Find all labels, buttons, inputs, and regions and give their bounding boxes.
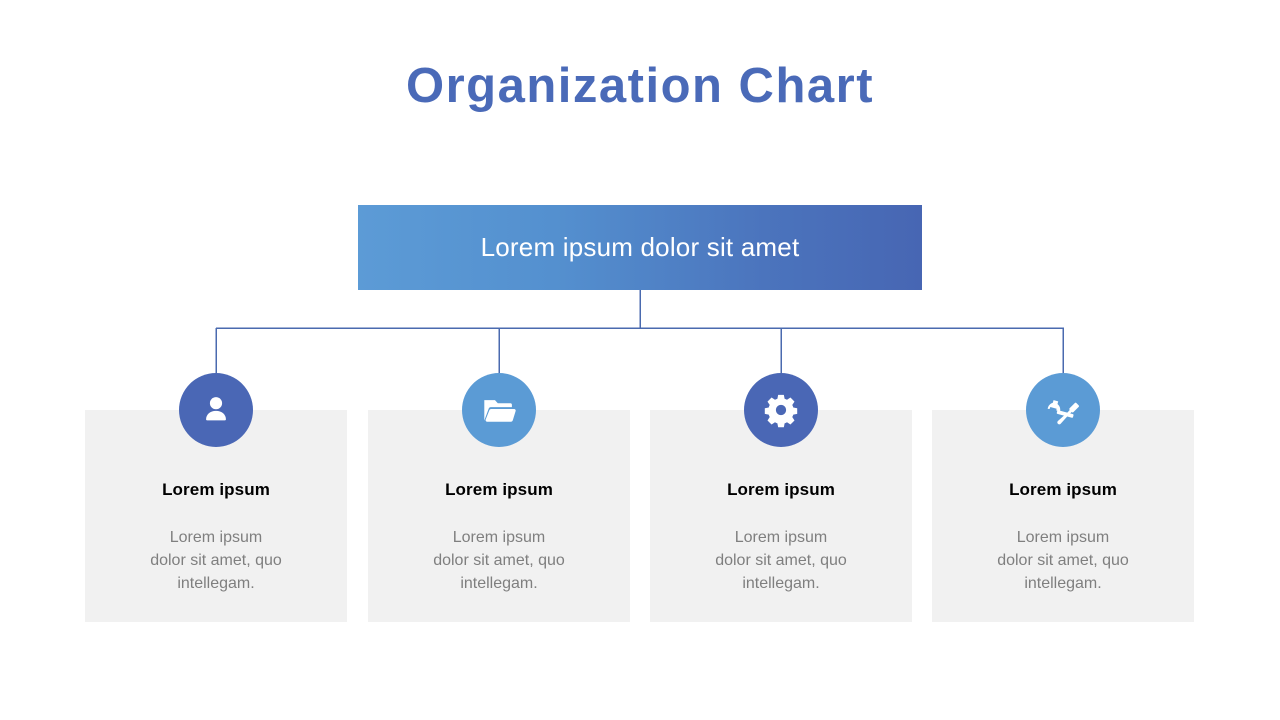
branch-icon-circle[interactable] bbox=[1026, 373, 1100, 447]
branch-heading: Lorem ipsum bbox=[932, 480, 1194, 500]
gear-icon bbox=[763, 392, 799, 428]
branch-icon-circle[interactable] bbox=[462, 373, 536, 447]
root-node-label: Lorem ipsum dolor sit amet bbox=[481, 232, 800, 263]
root-node-box[interactable]: Lorem ipsum dolor sit amet bbox=[358, 205, 922, 290]
person-icon bbox=[199, 393, 233, 427]
branch-node-1[interactable]: Lorem ipsum Lorem ipsum dolor sit amet, … bbox=[85, 410, 347, 622]
folder-icon bbox=[481, 392, 517, 428]
branch-node-3[interactable]: Lorem ipsum Lorem ipsum dolor sit amet, … bbox=[650, 410, 912, 622]
branch-heading: Lorem ipsum bbox=[85, 480, 347, 500]
organization-chart-slide: Organization Chart Lorem ipsum dolor sit… bbox=[0, 0, 1280, 720]
branch-body-text: Lorem ipsum dolor sit amet, quo intelleg… bbox=[374, 526, 624, 595]
branch-heading: Lorem ipsum bbox=[650, 480, 912, 500]
branch-body-text: Lorem ipsum dolor sit amet, quo intelleg… bbox=[91, 526, 341, 595]
page-title: Organization Chart bbox=[0, 58, 1280, 114]
branch-body-text: Lorem ipsum dolor sit amet, quo intelleg… bbox=[656, 526, 906, 595]
branch-node-4[interactable]: Lorem ipsum Lorem ipsum dolor sit amet, … bbox=[932, 410, 1194, 622]
tools-icon bbox=[1045, 392, 1081, 428]
branch-icon-circle[interactable] bbox=[744, 373, 818, 447]
branch-node-2[interactable]: Lorem ipsum Lorem ipsum dolor sit amet, … bbox=[368, 410, 630, 622]
branch-heading: Lorem ipsum bbox=[368, 480, 630, 500]
branch-icon-circle[interactable] bbox=[179, 373, 253, 447]
branch-body-text: Lorem ipsum dolor sit amet, quo intelleg… bbox=[938, 526, 1188, 595]
